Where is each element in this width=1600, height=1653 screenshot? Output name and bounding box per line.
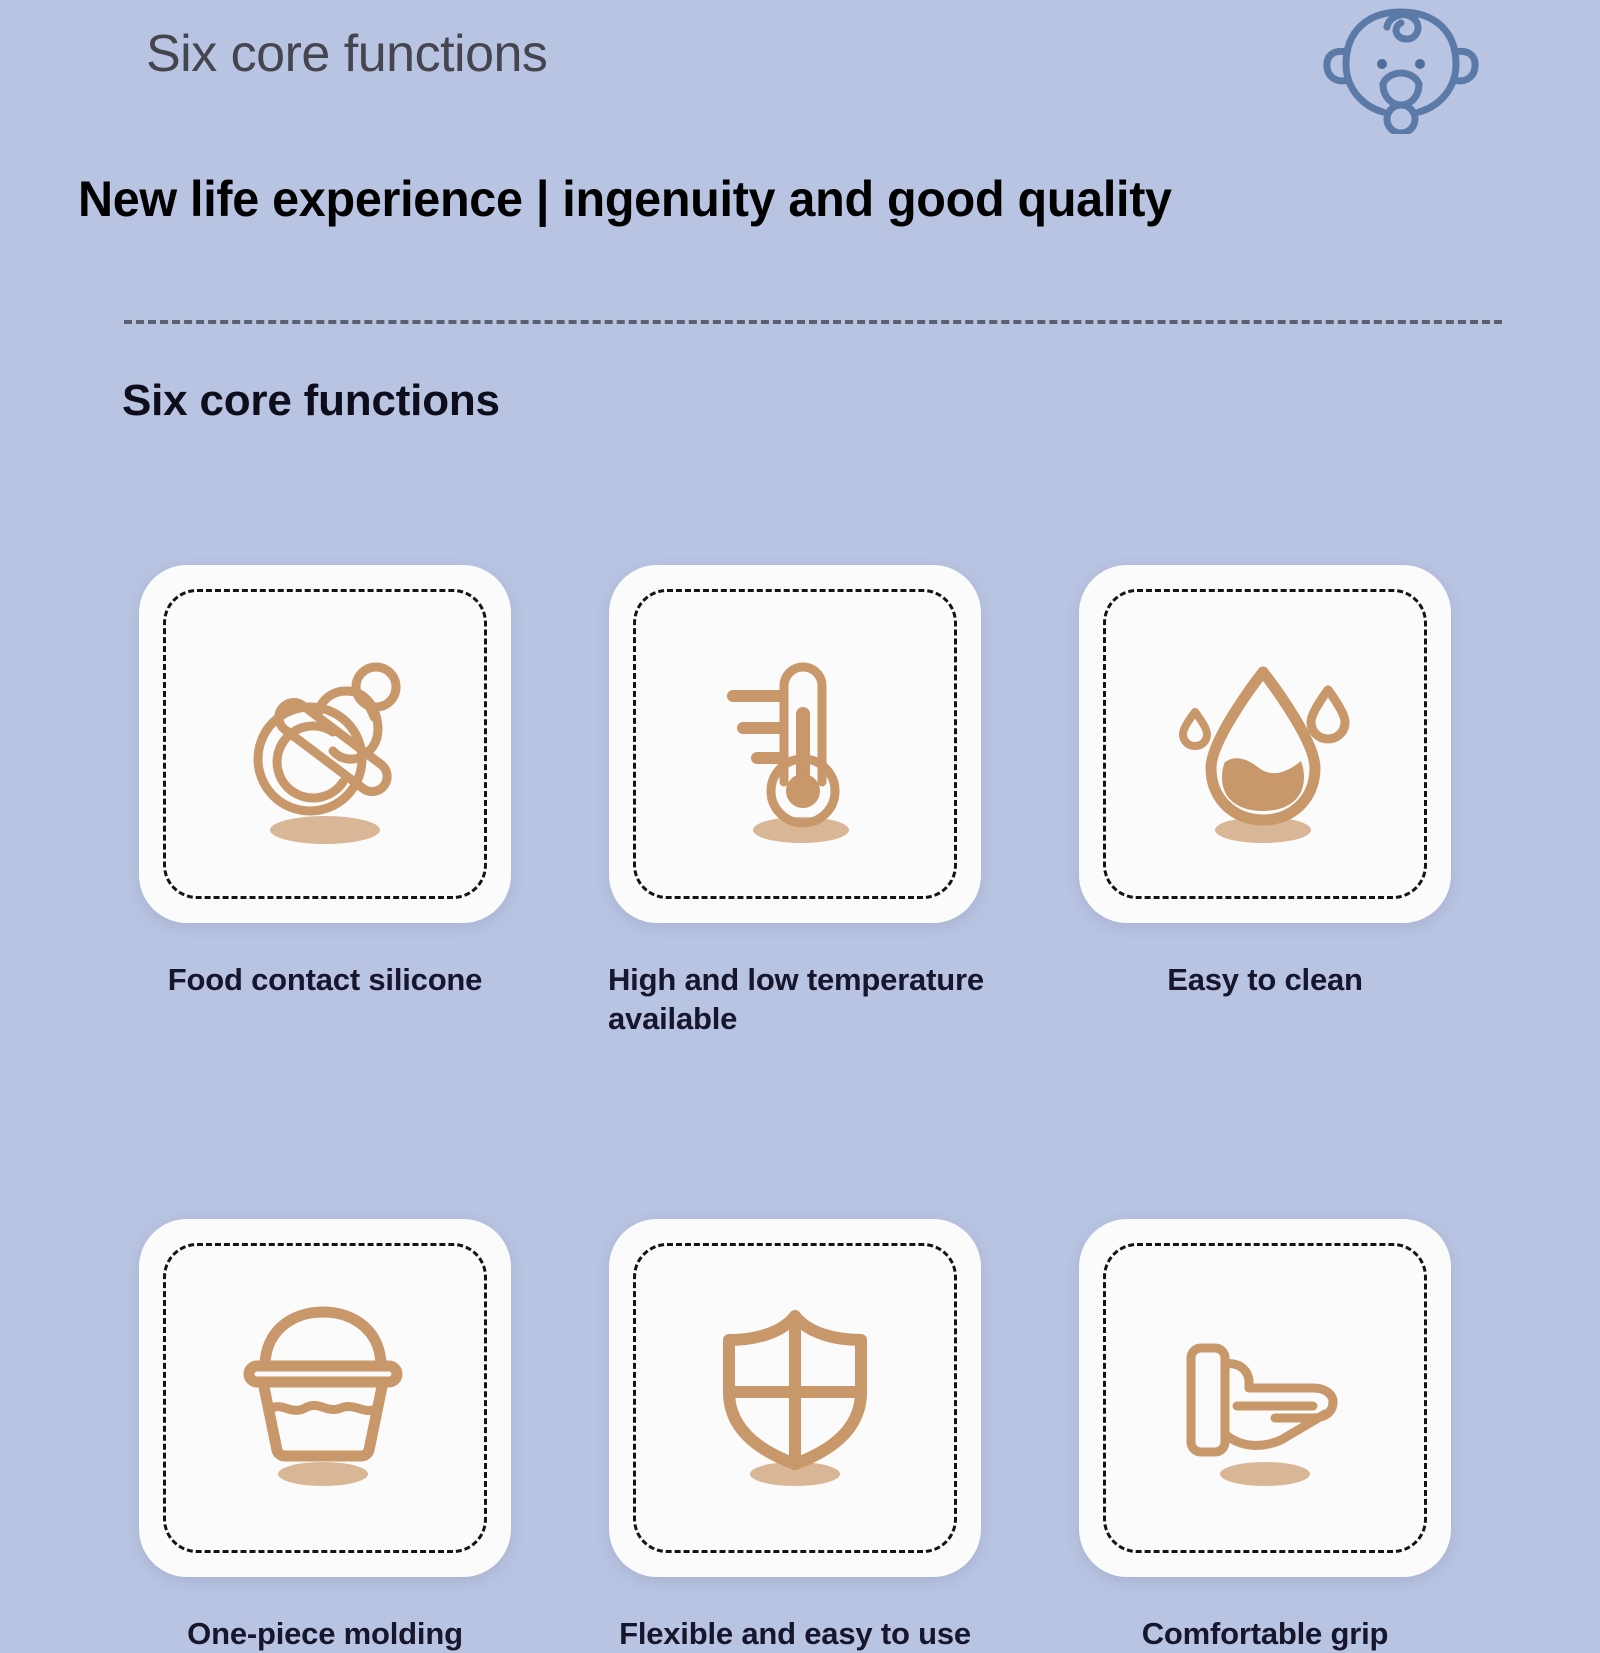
shield-icon [665,1268,925,1528]
feature-label: Comfortable grip [1142,1615,1389,1653]
baby-face-pacifier-icon [1316,2,1486,134]
feature-card[interactable] [1079,565,1451,923]
feature-label: Food contact silicone [168,961,482,1000]
feature-card[interactable] [609,565,981,923]
feature-label: One-piece molding [187,1615,463,1653]
page-top-title: Six core functions [146,26,547,83]
feature-grid: Food contact silicone [130,565,1460,1653]
feature-row: One-piece molding [130,1219,1460,1653]
feature-item-comfortable-grip[interactable]: Comfortable grip [1070,1219,1460,1653]
page-headline: New life experience | ingenuity and good… [78,170,1172,228]
feature-item-easy-to-clean[interactable]: Easy to clean [1070,565,1460,1039]
feature-label: Easy to clean [1167,961,1363,1000]
feature-label: Flexible and easy to use [619,1615,971,1653]
feature-item-food-contact-silicone[interactable]: Food contact silicone [130,565,520,1039]
feature-item-high-and-low-temperature[interactable]: High and low temperature available [600,565,990,1039]
feature-label: High and low temperature available [608,961,990,1039]
feature-card[interactable] [139,565,511,923]
basket-mold-icon [195,1268,455,1528]
hand-grip-icon [1135,1268,1395,1528]
water-drop-icon [1135,614,1395,874]
thermometer-icon [665,614,925,874]
pacifier-icon [195,614,455,874]
feature-row: Food contact silicone [130,565,1460,1039]
feature-card[interactable] [609,1219,981,1577]
feature-card[interactable] [139,1219,511,1577]
section-subheading: Six core functions [122,376,500,426]
feature-card[interactable] [1079,1219,1451,1577]
section-divider [124,320,1502,324]
feature-item-flexible-and-easy-to-use[interactable]: Flexible and easy to use [600,1219,990,1653]
feature-item-one-piece-molding[interactable]: One-piece molding [130,1219,520,1653]
